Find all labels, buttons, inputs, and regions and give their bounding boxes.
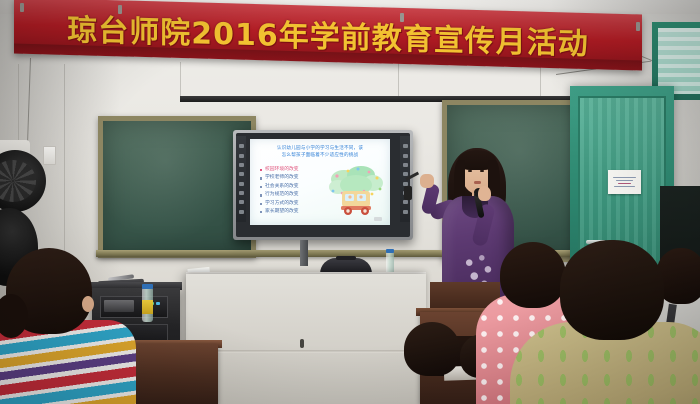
whiteboard-left-toolbar[interactable] <box>236 136 246 222</box>
presenter-hand <box>478 186 491 201</box>
slide-bullet-item: 行为规范的改变 <box>260 191 326 199</box>
toolbar-button-icon[interactable] <box>239 200 244 204</box>
notice-text-line <box>614 186 634 188</box>
wall-seam <box>64 64 65 274</box>
audience-tan-leaf-print <box>520 250 700 404</box>
posted-notice-paper <box>608 170 641 194</box>
toolbar-button-icon[interactable] <box>403 172 408 176</box>
toolbar-button-icon[interactable] <box>239 144 244 148</box>
audience-ear <box>82 296 94 312</box>
toolbar-button-icon[interactable] <box>239 191 244 195</box>
toolbar-button-icon[interactable] <box>239 210 244 214</box>
toolbar-button-icon[interactable] <box>403 144 408 148</box>
toolbar-button-icon[interactable] <box>239 154 244 158</box>
cartoon-school-bus-icon <box>328 163 384 219</box>
audience-striped-shirt <box>0 248 144 404</box>
slide-title-text: 认识幼儿园与小学的学习与生活不同，该怎么帮孩子面临着不少适应性的挑战 <box>257 145 383 159</box>
toolbar-button-icon[interactable] <box>403 200 408 204</box>
presentation-slide: 认识幼儿园与小学的学习与生活不同，该怎么帮孩子面临着不少适应性的挑战 校园环境的… <box>250 139 390 225</box>
wall-seam <box>398 62 399 96</box>
slide-bullet-item: 社会关系的改变 <box>260 183 326 191</box>
notice-text-line <box>618 183 631 185</box>
banner-clip <box>400 13 404 22</box>
projector-head <box>404 186 412 200</box>
toolbar-button-icon[interactable] <box>403 154 408 158</box>
slide-bullet-item: 学校老师的改变 <box>260 174 326 182</box>
presenter-mouth <box>474 181 481 184</box>
wall-socket[interactable] <box>43 146 56 165</box>
slide-bullet-list: 校园环境的改变学校老师的改变社会关系的改变行为规范的改变学习方式的改变家长期望的… <box>260 166 326 216</box>
bottle-cap <box>386 249 394 253</box>
whiteboard-brand-logo <box>374 217 382 221</box>
toolbar-button-icon[interactable] <box>239 163 244 167</box>
window-louvers <box>658 28 700 94</box>
notice-text-line <box>613 177 636 179</box>
toolbar-button-icon[interactable] <box>403 210 408 214</box>
toolbar-button-icon[interactable] <box>239 182 244 186</box>
toolbar-button-icon[interactable] <box>403 163 408 167</box>
wall-seam <box>180 62 181 98</box>
slide-bullet-item: 校园环境的改变 <box>260 166 326 174</box>
banner-clip <box>20 3 24 12</box>
interactive-whiteboard[interactable]: 认识幼儿园与小学的学习与生活不同，该怎么帮孩子面临着不少适应性的挑战 校园环境的… <box>233 130 413 240</box>
presenter-eye <box>480 170 484 172</box>
bag-strap <box>336 256 356 260</box>
chalk-dust <box>103 121 251 253</box>
lectern-drawer-seam <box>192 350 420 353</box>
whiteboard-stand <box>300 240 308 266</box>
classroom-photo-scene: 琼台师院2016年学前教育宣传月活动 <box>0 0 700 404</box>
lectern-cabinet <box>186 274 426 404</box>
status-led <box>156 302 160 305</box>
toolbar-button-icon[interactable] <box>239 172 244 176</box>
lectern-lock[interactable] <box>300 339 304 348</box>
audience-back-head <box>404 322 460 376</box>
slide-bullet-item: 学习方式的改变 <box>260 200 326 208</box>
banner-clip <box>636 22 640 31</box>
raised-hand-gesture <box>420 174 434 188</box>
banner-clip <box>118 5 122 14</box>
notice-text-line <box>616 180 634 182</box>
presenter-eye <box>468 170 472 172</box>
audience-hair <box>560 240 664 340</box>
slide-bullet-item: 家长期望的改变 <box>260 208 326 216</box>
